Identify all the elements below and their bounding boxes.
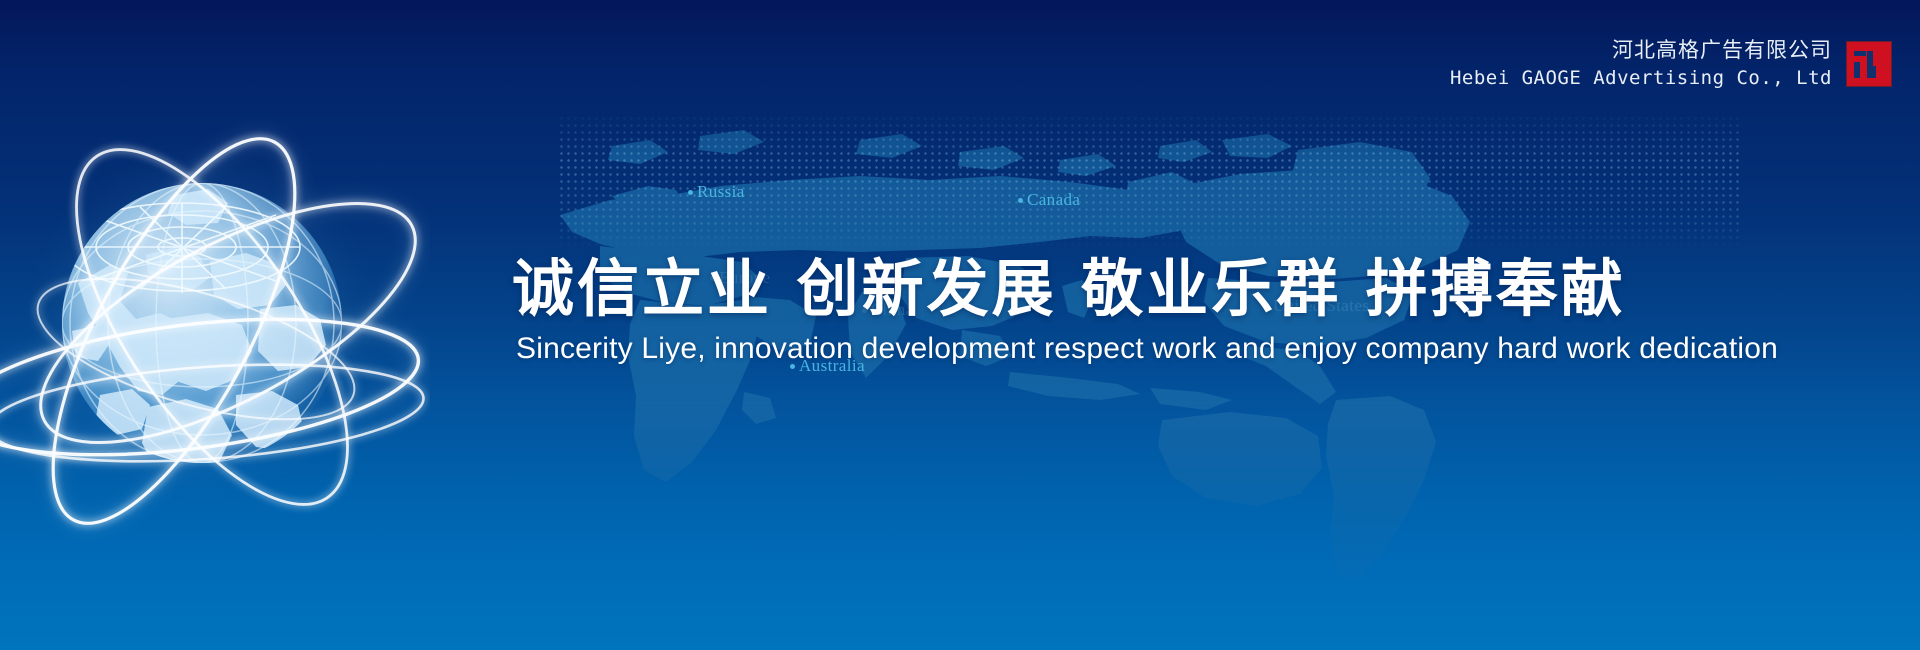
map-halftone-texture [560,110,1740,250]
logo-stroke-a [1854,51,1866,56]
logo-stroke-e [1876,51,1881,78]
company-name-cn: 河北高格广告有限公司 [1450,36,1832,64]
company-name-en: Hebei GAOGE Advertising Co., Ltd [1450,66,1832,91]
company-banner: Russia Canada Australia Europe China Uni… [0,0,1920,650]
globe-graphic [0,95,430,545]
map-label-dot-icon [1018,198,1023,203]
map-label-russia: Russia [688,182,745,202]
map-label-canada: Canada [1018,190,1080,210]
company-identity-block: 河北高格广告有限公司 Hebei GAOGE Advertising Co., … [1450,36,1892,92]
logo-stroke-c [1854,62,1860,78]
slogan-chinese: 诚信立业 创新发展 敬业乐群 拼搏奉献 [512,238,1626,328]
company-names: 河北高格广告有限公司 Hebei GAOGE Advertising Co., … [1450,36,1832,92]
logo-stroke-d [1867,66,1876,78]
map-label-dot-icon [688,190,693,195]
company-logo-icon [1846,41,1892,87]
slogan-english: Sincerity Liye, innovation development r… [516,332,1778,366]
